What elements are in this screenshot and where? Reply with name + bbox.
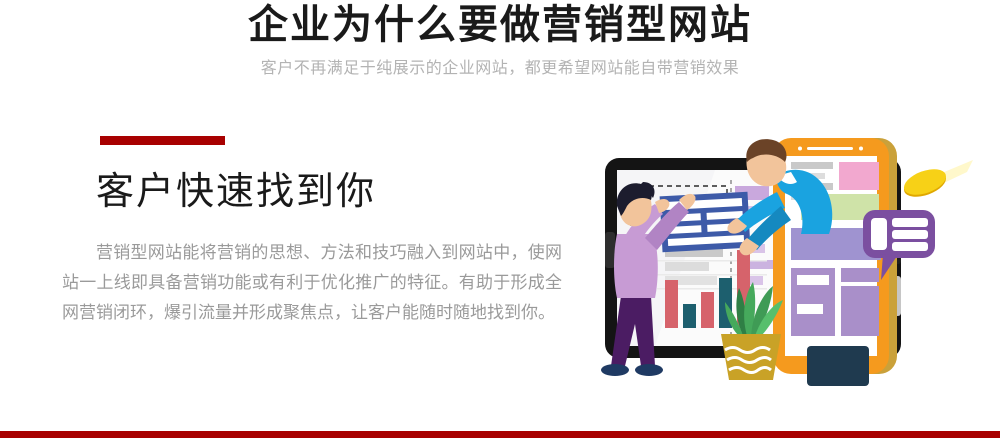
accent-bar [100,136,225,145]
page-title: 企业为什么要做营销型网站 [0,2,1000,48]
illustration [595,128,1000,413]
footer-rule [0,431,1000,438]
section-paragraph: 营销型网站能将营销的思想、方法和技巧融入到网站中，使网站一上线即具备营销功能或有… [62,238,562,328]
page-subtitle: 客户不再满足于纯展示的企业网站，都更希望网站能自带营销效果 [0,58,1000,80]
section-heading: 客户快速找到你 [96,166,376,218]
promo-banner: 企业为什么要做营销型网站 客户不再满足于纯展示的企业网站，都更希望网站能自带营销… [0,0,1000,438]
coin-icon [901,160,973,202]
